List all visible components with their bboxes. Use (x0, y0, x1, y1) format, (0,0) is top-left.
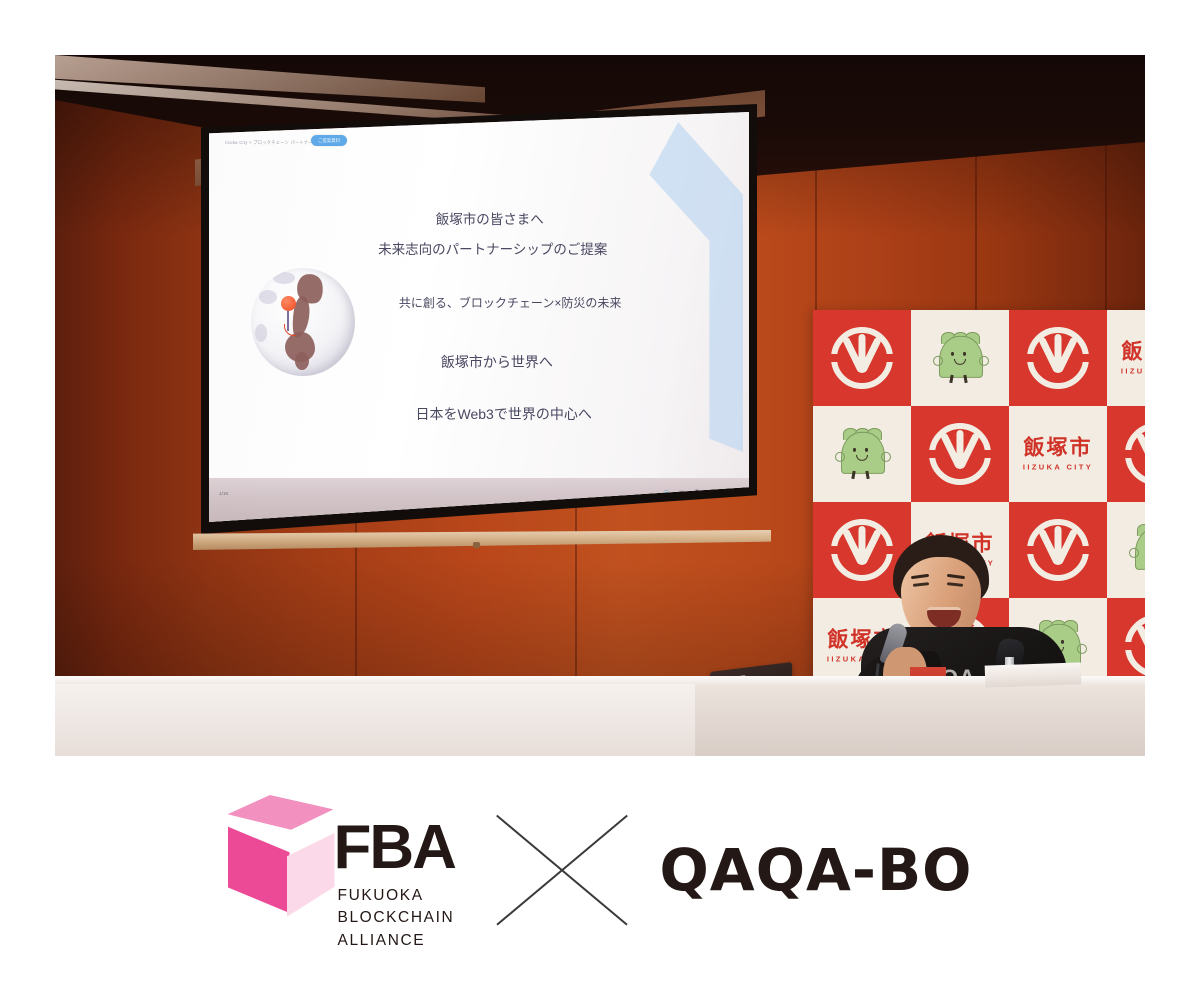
backdrop-tile (813, 310, 911, 406)
backdrop-tile (813, 406, 911, 502)
slide-header: Iizuka City × ブロックチェーン パートナーシップご提案 ご提案資料 (225, 134, 749, 152)
slide-pill-badge: ご提案資料 (311, 135, 347, 146)
backdrop-tile (1009, 310, 1107, 406)
city-emblem-icon (929, 423, 991, 485)
pin-stem (287, 309, 289, 331)
city-name-block: 飯塚市 IIZUKA CITY (1023, 436, 1093, 471)
city-emblem-icon (1125, 423, 1145, 485)
presentation-table (55, 676, 1145, 756)
backdrop-tile: 飯塚市 IIZUKA CITY (1009, 406, 1107, 502)
desk-papers (985, 662, 1082, 687)
logo-lockup: FBA FUKUOKA BLOCKCHAIN ALLIANCE QAQA-BO (0, 770, 1200, 970)
city-name-jp: 飯塚市 (1023, 436, 1093, 459)
backdrop-tile (1107, 502, 1145, 598)
x-cross-icon (482, 790, 642, 950)
fba-logo: FBA FUKUOKA BLOCKCHAIN ALLIANCE (228, 785, 448, 955)
table-cloth (55, 684, 695, 756)
city-name-block: 飯塚市 IIZUKA CITY (1121, 340, 1145, 375)
projection-screen-assembly: Iizuka City × ブロックチェーン パートナーシップご提案 ご提案資料… (195, 90, 765, 560)
slide-page-indicator: 1/18 (219, 491, 228, 496)
screen-bottom-rail (193, 530, 771, 550)
backdrop-tile: 飯塚市 IIZUKA CITY (1107, 310, 1145, 406)
globe-graphic (251, 268, 355, 376)
city-emblem-icon (831, 327, 893, 389)
fba-subtitle-line-3: ALLIANCE (338, 930, 455, 952)
slide-line-3: 共に創る、ブロックチェーン×防災の未来 (399, 294, 621, 311)
screen-rail-knob (473, 542, 480, 548)
backdrop-tile (911, 406, 1009, 502)
qaqa-bo-wordmark: QAQA-BO (660, 836, 973, 904)
fba-subtitle-line-1: FUKUOKA (338, 885, 455, 907)
fba-subtitle-line-2: BLOCKCHAIN (338, 907, 455, 929)
slide-line-2: 未来志向のパートナーシップのご提案 (378, 238, 607, 258)
city-emblem-icon (1027, 327, 1089, 389)
slide-line-1: 飯塚市の皆さまへ (436, 208, 544, 228)
slide-line-4: 飯塚市から世界へ (441, 352, 553, 372)
mascot-icon (1129, 522, 1145, 576)
event-photograph: Iizuka City × ブロックチェーン パートナーシップご提案 ご提案資料… (55, 55, 1145, 755)
city-name-en: IIZUKA CITY (1023, 463, 1093, 472)
backdrop-tile (1107, 406, 1145, 502)
city-name-en: IIZUKA CITY (1121, 367, 1145, 376)
globe-landmass (295, 352, 309, 370)
city-name-jp: 飯塚市 (1121, 340, 1145, 363)
backdrop-tile (911, 310, 1009, 406)
mascot-icon (835, 426, 889, 480)
projection-screen: Iizuka City × ブロックチェーン パートナーシップご提案 ご提案資料… (209, 112, 749, 522)
location-pin-icon (281, 296, 296, 311)
fba-subtitle: FUKUOKA BLOCKCHAIN ALLIANCE (338, 885, 455, 952)
slide-line-5: 日本をWeb3で世界の中心へ (416, 404, 592, 424)
globe-shade (273, 272, 295, 284)
cube-right-face (287, 833, 335, 917)
mascot-icon (933, 330, 987, 384)
fba-wordmark: FBA (334, 817, 455, 879)
city-emblem-icon (1125, 615, 1145, 677)
globe-shade (255, 324, 267, 342)
globe-shade (259, 290, 277, 304)
fba-cube-icon (228, 795, 334, 913)
cube-left-face (228, 821, 290, 913)
